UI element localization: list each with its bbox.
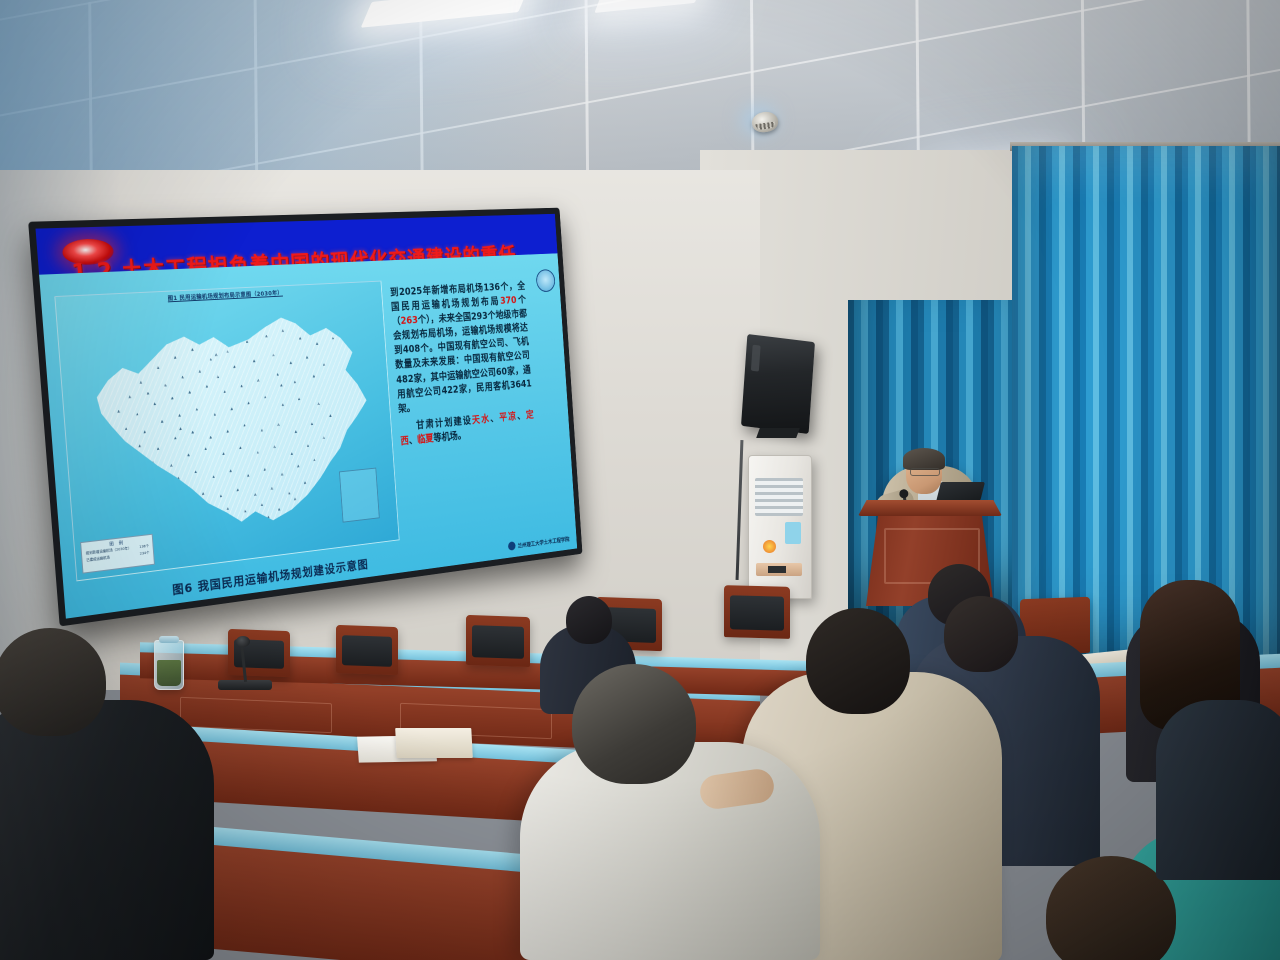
ac-sticker-icon	[763, 540, 776, 553]
airport-marker	[198, 370, 201, 373]
org-logo-text: 兰州理工大学土木工程学院	[517, 534, 569, 549]
airport-marker	[282, 329, 285, 332]
airport-marker	[307, 444, 310, 447]
airport-marker	[257, 379, 260, 382]
airport-marker	[226, 430, 229, 433]
airport-marker	[202, 492, 205, 495]
airport-marker	[250, 520, 253, 523]
tea-jar	[154, 640, 184, 690]
slide-body-text: 到2025年新增布局机场136个，全国民用运输机场规划布局370个（263个），…	[390, 279, 535, 449]
airport-marker	[288, 491, 291, 494]
airport-marker	[146, 391, 149, 394]
airport-marker	[244, 509, 247, 512]
airport-marker	[316, 342, 319, 345]
airport-marker	[304, 481, 307, 484]
airport-marker	[117, 410, 120, 413]
map-header-label: 图1 民用运输机场规划布局示意图（2030年）	[56, 283, 382, 308]
airport-marker	[329, 414, 332, 417]
airport-marker	[157, 447, 160, 450]
airport-marker	[187, 453, 190, 456]
airport-marker	[276, 373, 279, 376]
airport-marker	[294, 430, 297, 433]
org-logo-icon	[508, 541, 516, 551]
audience-head	[944, 596, 1018, 672]
airport-marker	[260, 503, 263, 506]
airport-marker	[188, 391, 191, 394]
airport-marker	[174, 436, 177, 439]
airport-marker	[138, 444, 141, 447]
audience-member	[1156, 700, 1280, 880]
airport-marker	[153, 402, 156, 405]
ac-grille	[755, 478, 803, 516]
airport-marker	[290, 452, 293, 455]
airport-marker	[212, 475, 215, 478]
airport-marker	[181, 375, 184, 378]
ac-control-panel[interactable]	[756, 563, 802, 576]
gooseneck-microphone[interactable]	[218, 638, 272, 690]
airport-marker	[294, 380, 297, 383]
airport-marker	[246, 340, 249, 343]
airport-marker	[191, 430, 194, 433]
airport-marker	[271, 487, 274, 490]
org-logo: 兰州理工大学土木工程学院	[508, 534, 570, 551]
airport-marker	[191, 348, 194, 351]
airport-marker	[273, 445, 276, 448]
airport-marker	[247, 401, 250, 404]
airport-marker	[209, 436, 212, 439]
china-airport-map: 图1 民用运输机场规划布局示意图（2030年） 图 例 规划新增运输机场（203…	[54, 281, 399, 582]
airport-marker	[313, 375, 316, 378]
airport-marker	[152, 461, 155, 464]
legend-row-value: 234个	[140, 551, 150, 557]
map-legend: 图 例 规划新增运输机场（2030年）136个 已建成运输机场234个	[80, 534, 155, 574]
airport-marker	[143, 430, 146, 433]
airport-marker	[194, 470, 197, 473]
ac-badge	[785, 522, 801, 544]
south-china-sea-inset	[339, 468, 380, 523]
airport-marker	[254, 493, 257, 496]
podium-top	[858, 500, 1002, 516]
airport-marker	[205, 385, 208, 388]
airport-marker	[306, 356, 309, 359]
airport-marker	[310, 422, 313, 425]
airport-marker	[323, 363, 326, 366]
airport-marker	[226, 507, 229, 510]
airport-marker	[125, 427, 128, 430]
airport-marker	[317, 402, 320, 405]
airport-marker	[168, 482, 171, 485]
airport-marker	[257, 451, 260, 454]
airport-marker	[170, 464, 173, 467]
airport-marker	[157, 366, 160, 369]
airport-marker	[164, 383, 167, 386]
airport-marker	[281, 403, 284, 406]
airport-marker	[278, 508, 281, 511]
airport-marker	[171, 396, 174, 399]
airport-marker	[264, 396, 267, 399]
airport-marker	[223, 390, 226, 393]
airport-marker	[229, 469, 232, 472]
slide-paragraph-1: 到2025年新增布局机场136个，全国民用运输机场规划布局370个（263个），…	[390, 279, 533, 416]
led-display-screen[interactable]: 1.2 土木工程担负着中国的现代化交通建设的重任 图1 民用运输机场规划布局示意…	[28, 208, 582, 627]
airport-marker	[265, 334, 268, 337]
airport-marker	[230, 407, 233, 410]
airport-marker	[226, 350, 229, 353]
airport-marker	[322, 436, 325, 439]
microphone-head-icon	[236, 636, 250, 647]
airport-marker	[267, 515, 270, 518]
slide-body: 图1 民用运输机场规划布局示意图（2030年） 图 例 规划新增运输机场（203…	[39, 253, 577, 618]
airport-marker	[261, 429, 264, 432]
airport-marker	[263, 468, 266, 471]
audience-head	[572, 664, 696, 784]
airport-marker	[313, 459, 316, 462]
airport-marker	[297, 464, 300, 467]
legend-row-label: 已建成运输机场	[86, 555, 110, 563]
airport-marker	[139, 381, 142, 384]
airport-marker	[177, 477, 180, 480]
airport-marker	[128, 395, 131, 398]
airport-marker	[161, 420, 164, 423]
audience-head	[806, 608, 910, 714]
university-emblem-icon	[536, 269, 555, 294]
airport-marker	[243, 424, 246, 427]
airport-marker	[280, 384, 283, 387]
airport-marker	[281, 473, 284, 476]
open-book	[395, 728, 473, 758]
airport-marker	[213, 413, 216, 416]
airport-marker	[215, 353, 218, 356]
airport-marker	[209, 358, 212, 361]
airport-marker	[204, 447, 207, 450]
airport-marker	[195, 408, 198, 411]
airport-marker	[240, 384, 243, 387]
lecture-hall-scene: 1.2 土木工程担负着中国的现代化交通建设的重任 图1 民用运输机场规划布局示意…	[0, 0, 1280, 960]
airport-marker	[289, 361, 292, 364]
airport-marker	[294, 497, 297, 500]
presenter-glasses-icon	[910, 468, 940, 476]
airport-marker	[136, 413, 139, 416]
wall-speaker	[741, 334, 815, 434]
airport-marker	[174, 356, 177, 359]
airport-marker	[178, 414, 181, 417]
floor-ac-unit[interactable]	[748, 455, 812, 599]
airport-marker	[179, 427, 182, 430]
airport-marker	[299, 337, 302, 340]
audience-head	[566, 596, 612, 644]
airport-marker	[233, 365, 236, 368]
airport-marker	[277, 423, 280, 426]
airport-marker	[272, 354, 275, 357]
presenter-hair	[903, 448, 945, 470]
audience-head	[0, 628, 106, 736]
airport-marker	[222, 452, 225, 455]
audience-member	[0, 700, 214, 960]
airport-marker	[239, 446, 242, 449]
airport-marker	[332, 337, 335, 340]
airport-marker	[298, 397, 301, 400]
airport-marker	[216, 375, 219, 378]
airport-marker	[253, 359, 256, 362]
airport-marker	[247, 474, 250, 477]
airport-marker	[236, 488, 239, 491]
china-outline	[78, 304, 383, 550]
airport-marker	[219, 494, 222, 497]
